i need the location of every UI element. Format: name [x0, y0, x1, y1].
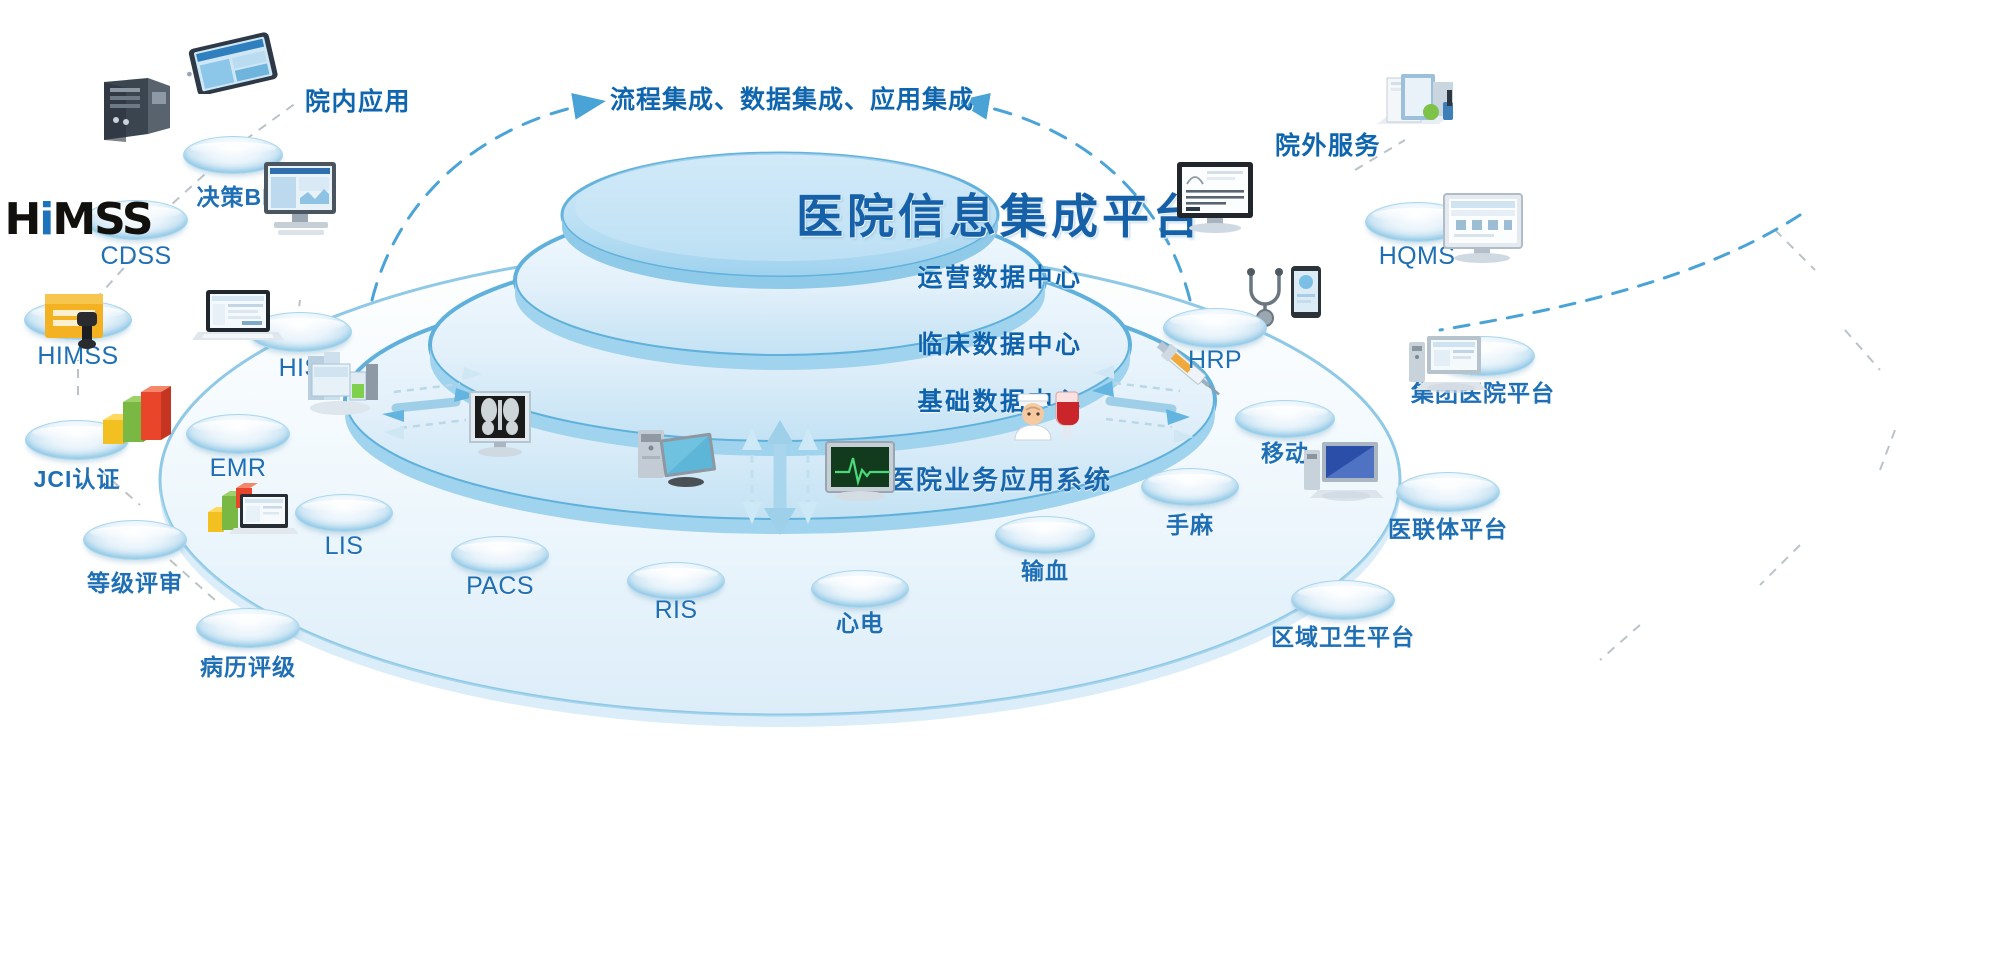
node-label: 区域卫生平台	[1271, 618, 1415, 652]
network-monitor-icon	[1399, 330, 1497, 400]
node-label: 医联体平台	[1388, 510, 1508, 544]
tier-label-clinical: 临床数据中心	[917, 325, 1082, 361]
node-label: CDSS	[100, 242, 171, 271]
node-base-disc	[1163, 308, 1267, 348]
node-label: PACS	[466, 572, 534, 601]
pc-tower-monitor-icon	[628, 426, 724, 496]
node-base-disc	[186, 414, 290, 454]
node-base-disc	[1291, 580, 1395, 620]
xray-monitor-icon	[458, 390, 542, 466]
node-label: 输血	[1021, 552, 1069, 586]
ecg-monitor-icon	[818, 438, 902, 504]
business-apps-label: 医院业务应用系统	[888, 460, 1112, 497]
blue-screen-monitor-icon	[1294, 438, 1392, 508]
node-base-disc	[1396, 472, 1500, 512]
desktop-computer-icon	[252, 158, 348, 242]
section-header-inhouse: 院内应用	[305, 82, 411, 118]
node-base-disc	[83, 520, 187, 560]
server-rack-icon	[86, 76, 186, 146]
integration-arc-label: 流程集成、数据集成、应用集成	[610, 80, 974, 116]
node-base-disc	[295, 494, 393, 532]
node-base-disc	[1141, 468, 1239, 506]
node-label: 病历评级	[200, 648, 296, 682]
node-label: RIS	[655, 596, 698, 625]
node-base-disc	[196, 608, 300, 648]
node-label: LIS	[325, 532, 364, 561]
vertical-arrow-apps	[742, 420, 818, 535]
tablet-dashboard-icon	[180, 32, 286, 94]
lab-analyzer-icon	[294, 350, 394, 426]
transfusion-nurse-icon	[997, 388, 1093, 452]
node-base-disc	[1235, 400, 1335, 438]
node-label: 心电	[836, 604, 884, 638]
diagram-canvas: 医院信息集成平台 运营数据中心 临床数据中心 基础数据中心 医院业务应用系统 流…	[0, 0, 2000, 955]
node-base-disc	[811, 570, 909, 608]
laptop-icon	[190, 286, 286, 348]
node-base-disc	[995, 516, 1095, 554]
himss-logo-icon: HiMSS	[4, 198, 151, 242]
page-title: 医院信息集成平台	[796, 178, 1204, 247]
node-label: JCI认证	[34, 460, 121, 494]
node-base-disc	[451, 536, 549, 574]
node-label: 手麻	[1166, 506, 1214, 540]
node-label: HRP	[1188, 346, 1242, 375]
documents-folder-icon	[1367, 72, 1467, 140]
bar-chart-3d-icon	[85, 376, 185, 452]
certificate-seal-icon	[31, 290, 123, 356]
tier-label-operational: 运营数据中心	[917, 258, 1082, 294]
section-header-external: 院外服务	[1275, 126, 1381, 162]
monitor-table-icon	[1167, 160, 1263, 236]
node-label: 等级评审	[87, 564, 183, 598]
node-base-disc	[627, 562, 725, 600]
portal-monitor-icon	[1434, 192, 1532, 264]
chart-laptop-icon	[196, 472, 300, 542]
